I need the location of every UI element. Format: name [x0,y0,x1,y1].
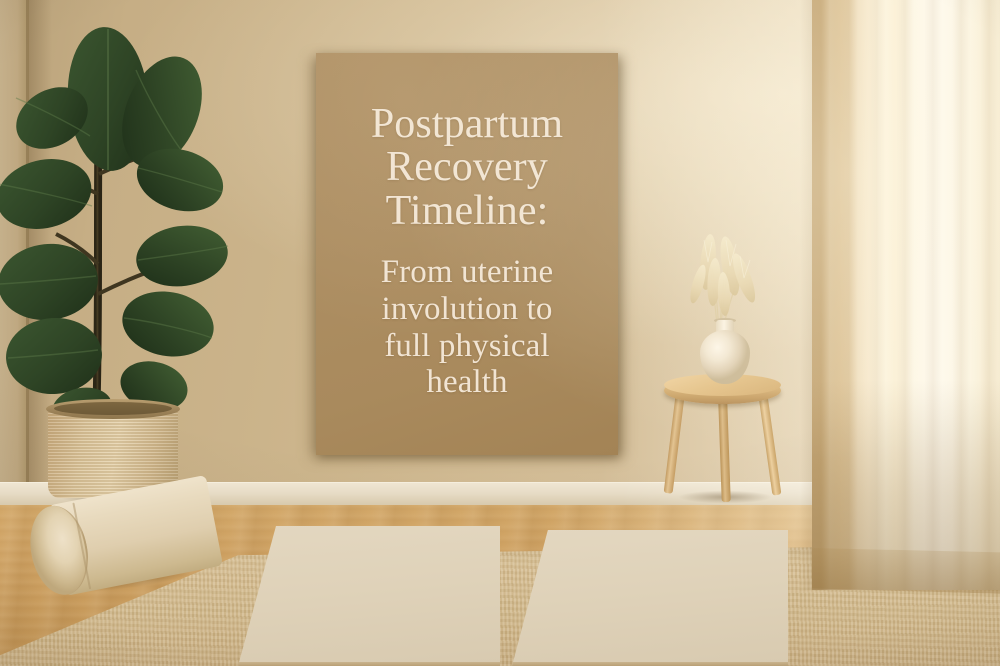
yoga-mat-right [512,530,788,666]
plant-leaf [3,315,104,398]
plant-leaf [132,220,231,292]
room-scene: Postpartum Recovery Timeline: From uteri… [0,0,1000,666]
mat-edge [512,662,788,666]
poster-text-block: Postpartum Recovery Timeline: From uteri… [316,53,618,455]
poster-title-line-3: Timeline: [371,190,563,234]
yoga-mat-left [238,526,500,666]
fiddle-leaf-fig-plant [0,0,248,464]
poster-title: Postpartum Recovery Timeline: [371,103,563,234]
poster-title-line-1: Postpartum [371,103,563,147]
planter-soil [54,402,172,415]
plant-svg [0,0,248,464]
poster-subtitle-line-3: full physical [381,328,554,365]
curtain-hem [812,548,1000,594]
poster-title-line-2: Recovery [371,146,563,190]
wall-art-canvas[interactable]: Postpartum Recovery Timeline: From uteri… [316,53,618,455]
plant-leaf [117,284,219,363]
plant-leaf [0,149,99,238]
poster-subtitle-line-4: health [381,364,554,401]
mat-edge [238,662,500,666]
poster-subtitle-line-1: From uterine [381,254,554,291]
poster-subtitle-line-2: involution to [381,291,554,328]
poster-subtitle: From uterine involution to full physical… [381,254,554,402]
